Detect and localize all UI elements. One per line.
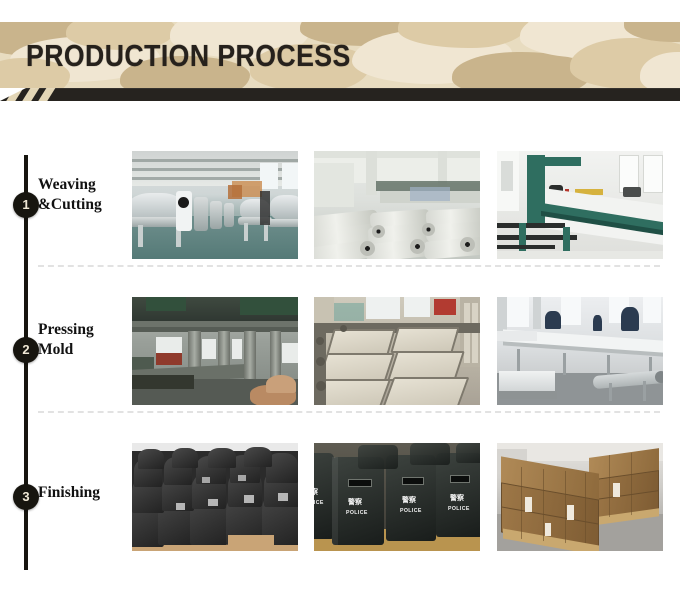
process-photo-fabric-roll-warehouse[interactable] [313, 150, 481, 260]
shield-marking-chinese: 警察 [314, 489, 326, 496]
header-accent-bar [0, 88, 680, 101]
row-separator [38, 265, 660, 267]
shield-marking-chinese: 警察 [402, 497, 416, 504]
shield-marking-english: POLICE [314, 501, 326, 506]
process-step-row: 2 Pressing Mold [0, 291, 680, 411]
stripe-slash-icon [35, 88, 58, 101]
step-label-line: Mold [38, 340, 130, 360]
step-number-badge-2: 2 [13, 337, 39, 363]
process-photo-workers-cutting-tables[interactable] [496, 296, 664, 406]
step-label-line: Pressing [38, 320, 130, 340]
process-step-row: 1 Weaving &Cutting [0, 145, 680, 265]
page-title: PRODUCTION PROCESS [26, 38, 351, 74]
step-label-line: Weaving [38, 175, 130, 195]
shield-marking-english: POLICE [400, 509, 422, 514]
process-timeline: 1 Weaving &Cutting [0, 101, 680, 607]
shield-marking-english: POLICE [448, 507, 470, 512]
accent-bar-taper [0, 88, 26, 101]
step-label-1: Weaving &Cutting [38, 175, 130, 216]
process-photo-green-cutting-machine[interactable] [496, 150, 664, 260]
process-photo-police-riot-shields[interactable]: 警察 POLICE 警察 POLICE 警察 POLICE 警察 POLICE [313, 442, 481, 552]
shield-marking-chinese: 警察 [348, 499, 362, 506]
process-photo-weaving-machine-hall[interactable] [131, 150, 299, 260]
process-step-row: 3 Finishing [0, 437, 680, 557]
process-photo-packed-cartons-on-pallets[interactable] [496, 442, 664, 552]
shield-marking-chinese: 警察 [450, 495, 464, 502]
shield-marking-english: POLICE [346, 511, 368, 516]
process-photo-pressing-mold-plates[interactable] [313, 296, 481, 406]
step-number-badge-3: 3 [13, 484, 39, 510]
step-label-2: Pressing Mold [38, 320, 130, 361]
row-separator [38, 411, 660, 413]
step-label-3: Finishing [38, 483, 130, 503]
process-photo-stacked-ballistic-panels[interactable] [131, 442, 299, 552]
step-number-badge-1: 1 [13, 192, 39, 218]
process-photo-hydraulic-press-machine[interactable] [131, 296, 299, 406]
page-header-banner: PRODUCTION PROCESS [0, 22, 680, 90]
step-label-line: &Cutting [38, 195, 130, 215]
step-label-line: Finishing [38, 483, 130, 503]
